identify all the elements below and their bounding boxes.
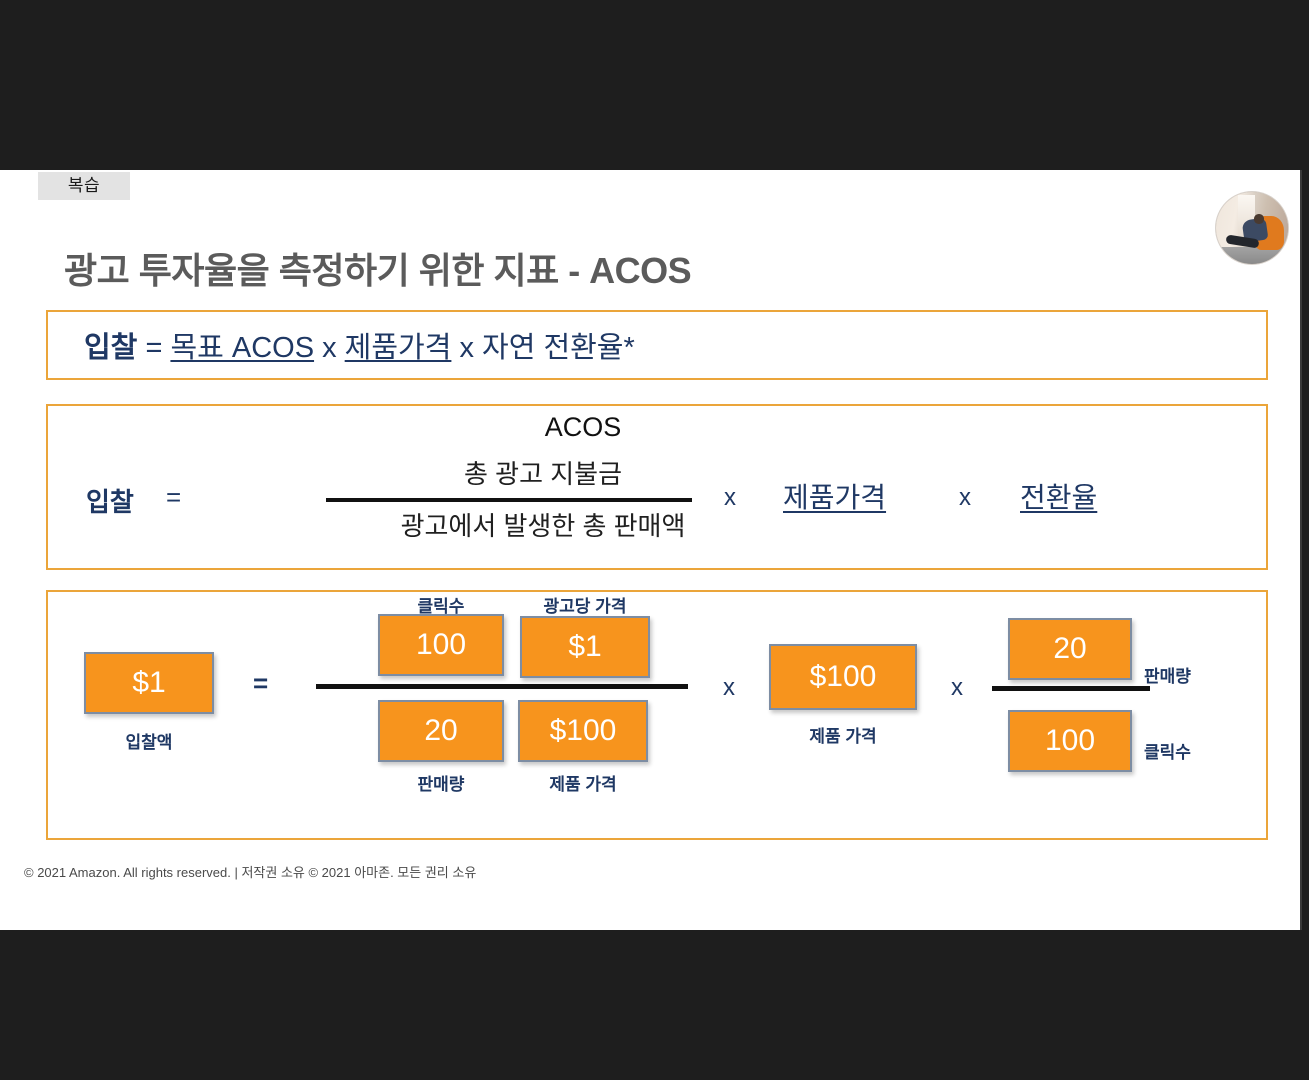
breakdown-acos-caption: ACOS — [468, 412, 698, 443]
example-cvr-denominator-value: 100 — [1008, 710, 1132, 772]
example-cost-per-ad-value: $1 — [520, 616, 650, 678]
formula-summary-panel: 입찰 = 목표 ACOS x 제품가격 x 자연 전환율* — [46, 310, 1268, 380]
breakdown-conversion-rate: 전환율 — [1020, 476, 1097, 516]
example-units-sold-label: 판매량 — [378, 770, 504, 795]
breakdown-product-price: 제품가격 — [783, 476, 886, 516]
formula-natural-cvr: 자연 전환율* — [482, 332, 635, 364]
example-equals: = — [253, 668, 268, 699]
screen: 복습 광고 투자율을 측정하기 위한 지표 - ACOS 입찰 = 목표 ACO… — [0, 0, 1309, 1080]
example-times-1: x — [723, 674, 735, 702]
breakdown-denominator: 광고에서 발생한 총 판매액 — [298, 506, 788, 543]
formula-target-acos: 목표 ACOS — [170, 332, 314, 364]
copyright-footer: © 2021 Amazon. All rights reserved. | 저작… — [24, 862, 476, 881]
example-product-price-value: $100 — [769, 644, 917, 710]
breakdown-equals: = — [166, 482, 181, 513]
formula-breakdown-panel: 입찰 = ACOS 총 광고 지불금 광고에서 발생한 총 판매액 x 제품가격… — [46, 404, 1268, 570]
page-title: 광고 투자율을 측정하기 위한 지표 - ACOS — [64, 242, 691, 294]
example-denominator-price-label: 제품 가격 — [518, 770, 648, 795]
example-bid-label: 입찰액 — [84, 728, 214, 753]
breakdown-times-1: x — [724, 484, 736, 512]
presentation-slide: 복습 광고 투자율을 측정하기 위한 지표 - ACOS 입찰 = 목표 ACO… — [0, 170, 1302, 930]
breakdown-fraction-bar — [326, 498, 692, 502]
breakdown-bid-term: 입찰 — [86, 482, 134, 519]
review-badge: 복습 — [38, 172, 130, 200]
formula-equals: = — [145, 332, 162, 364]
example-product-price-label: 제품 가격 — [769, 722, 917, 747]
formula-summary-line: 입찰 = 목표 ACOS x 제품가격 x 자연 전환율* — [84, 324, 635, 366]
presenter-avatar — [1216, 192, 1288, 264]
breakdown-times-2: x — [959, 484, 971, 512]
avatar-person-head — [1254, 214, 1263, 223]
example-denominator-price-value: $100 — [518, 700, 648, 762]
formula-product-price: 제품가격 — [345, 332, 452, 364]
example-cvr-denominator-label: 클릭수 — [1144, 738, 1191, 763]
example-cvr-fraction-bar — [992, 686, 1150, 691]
example-centre-fraction-bar — [316, 684, 688, 689]
example-cvr-numerator-label: 판매량 — [1144, 662, 1191, 687]
example-times-2: x — [951, 674, 963, 702]
formula-times-2: x — [459, 332, 474, 364]
worked-example-panel: $1 입찰액 = 클릭수 100 광고당 가격 $1 20 판매량 $100 제… — [46, 590, 1268, 840]
breakdown-numerator: 총 광고 지불금 — [328, 454, 758, 491]
example-units-sold-value: 20 — [378, 700, 504, 762]
formula-times-1: x — [322, 332, 337, 364]
example-cost-per-ad-label: 광고당 가격 — [520, 592, 650, 617]
example-bid-value: $1 — [84, 652, 214, 714]
example-cvr-numerator-value: 20 — [1008, 618, 1132, 680]
example-clicks-value: 100 — [378, 614, 504, 676]
formula-bid-term: 입찰 — [84, 332, 137, 364]
